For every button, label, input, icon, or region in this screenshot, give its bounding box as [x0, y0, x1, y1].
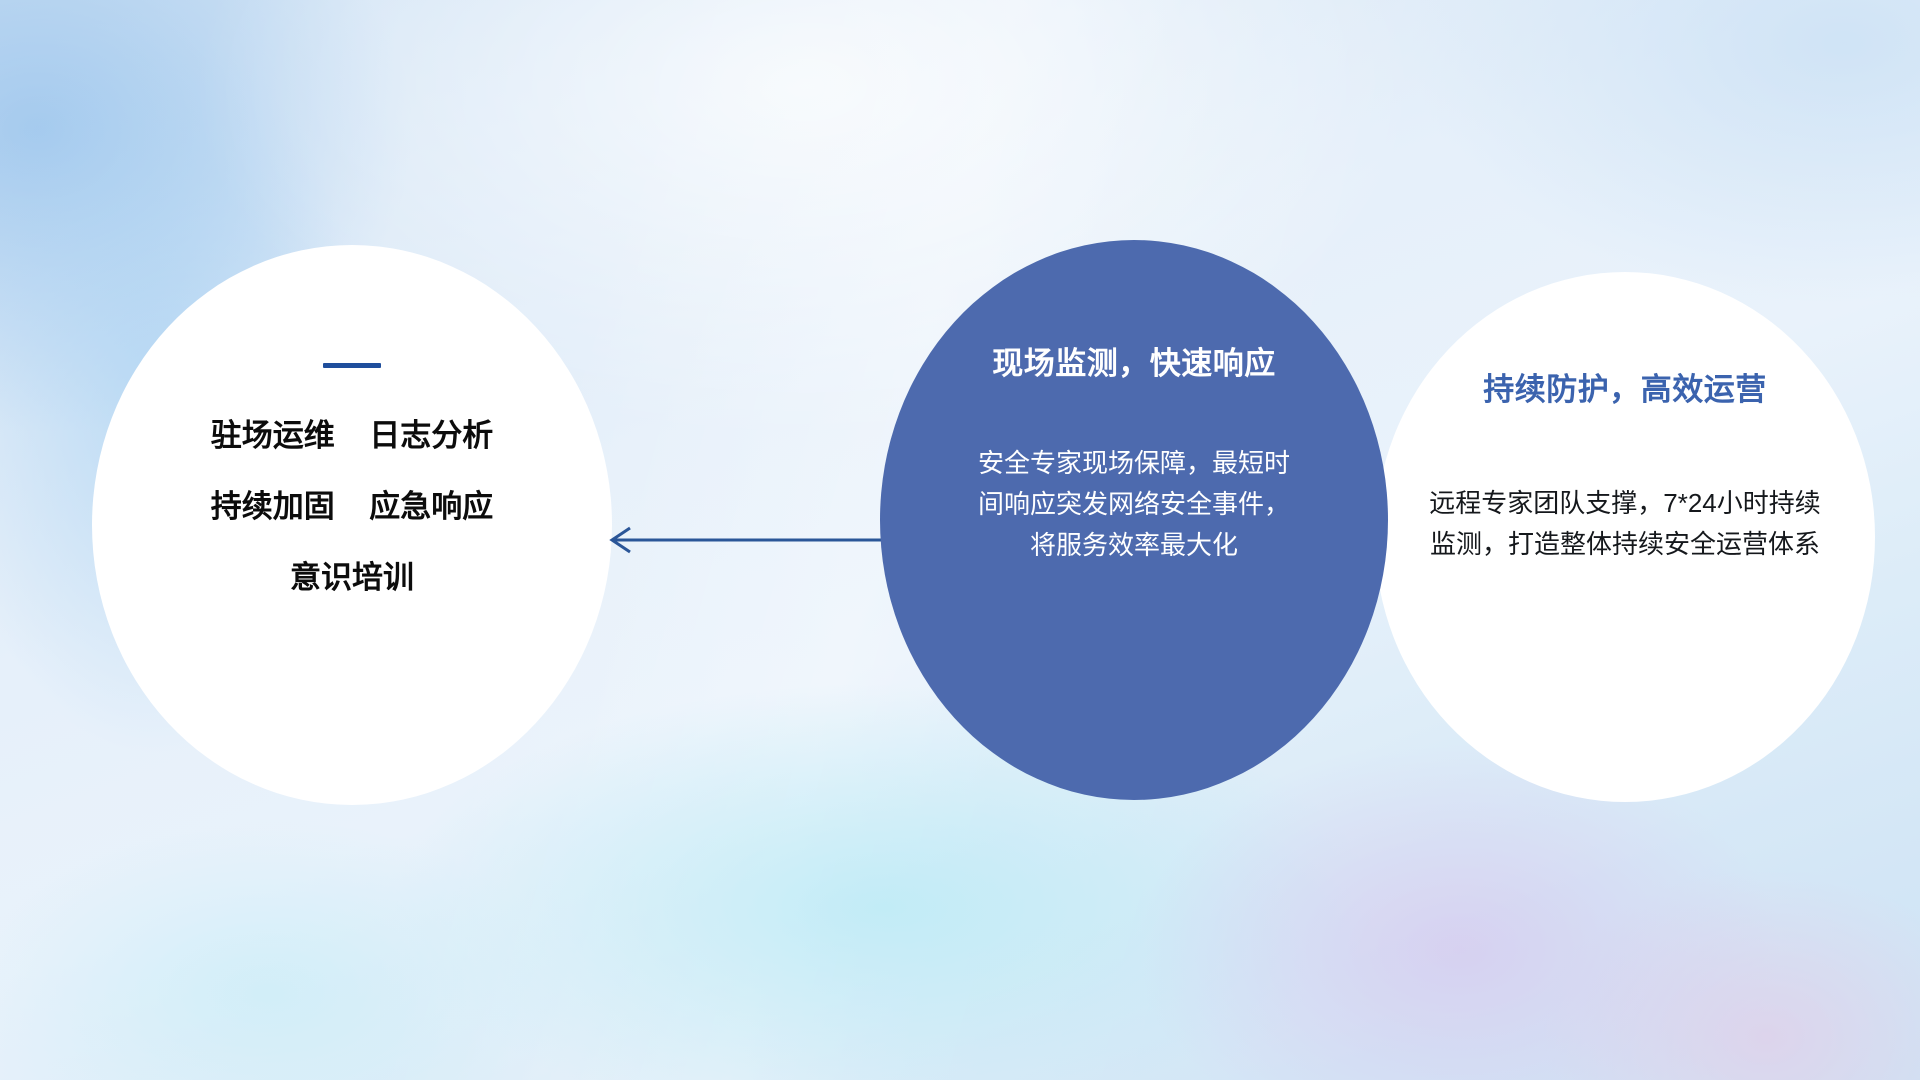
list-item: 驻场运维 日志分析: [211, 420, 493, 451]
right-circle-title: 持续防护，高效运营: [1483, 364, 1767, 409]
dash-divider-icon: [323, 363, 381, 368]
slide-canvas: 驻场运维 日志分析 持续加固 应急响应 意识培训 持续防护，高效运营 远程专家团…: [0, 0, 1920, 1080]
middle-circle-body: 安全专家现场保障，最短时间响应突发网络安全事件，将服务效率最大化: [975, 443, 1293, 566]
right-operation-circle: 持续防护，高效运营 远程专家团队支撑，7*24小时持续监测，打造整体持续安全运营…: [1375, 272, 1875, 802]
left-circle-keyword-list: 驻场运维 日志分析 持续加固 应急响应 意识培训: [211, 420, 493, 593]
middle-circle-title: 现场监测，快速响应: [992, 338, 1276, 383]
middle-monitoring-circle: 现场监测，快速响应 安全专家现场保障，最短时间响应突发网络安全事件，将服务效率最…: [880, 240, 1388, 800]
list-item: 持续加固 应急响应: [211, 491, 493, 522]
left-service-circle: 驻场运维 日志分析 持续加固 应急响应 意识培训: [92, 245, 612, 805]
left-arrow-icon: [600, 520, 910, 560]
connector-arrow: [600, 520, 910, 560]
right-circle-body: 远程专家团队支撑，7*24小时持续监测，打造整体持续安全运营体系: [1423, 483, 1827, 565]
list-item: 意识培训: [211, 562, 493, 593]
